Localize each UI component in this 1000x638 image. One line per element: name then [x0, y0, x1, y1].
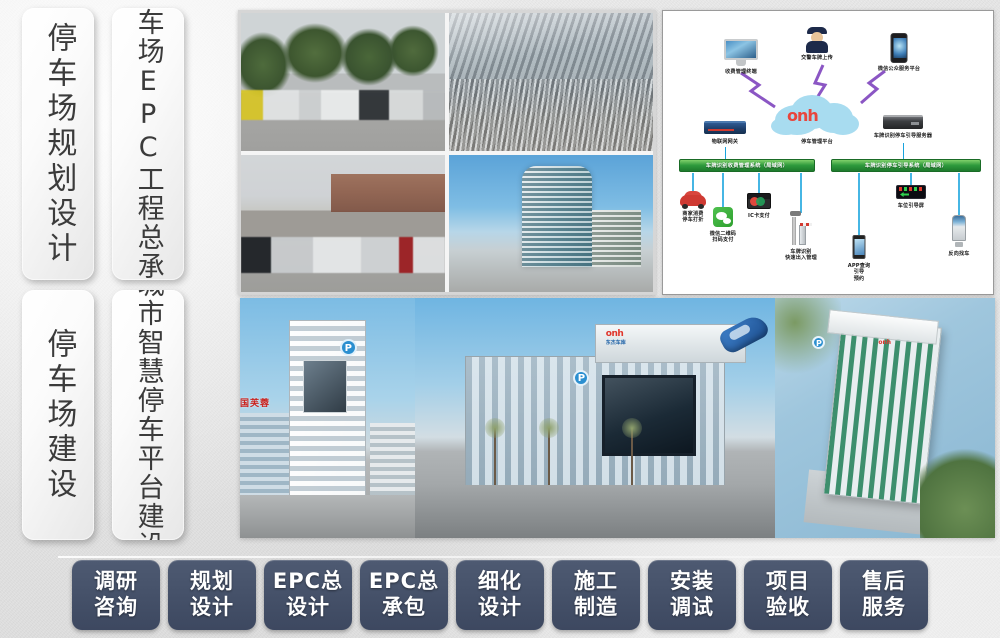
billboard-display — [303, 360, 347, 413]
pillar-card-label: 城市智慧停车平台建设 — [132, 290, 163, 540]
ground-plane — [240, 495, 415, 538]
left-pillar-group: 停车场规划设计 停车场EPC工程总承包 停车场建设 城市智慧停车平台建设 — [0, 0, 232, 548]
logo-subtitle: 东杰车库 — [606, 339, 626, 346]
greenery-bottom — [920, 442, 995, 538]
pillar-card-construction[interactable]: 停车场建设 — [22, 290, 94, 540]
photo-aerial-parking-view — [449, 13, 653, 151]
photo-office-tower — [449, 155, 653, 293]
low-building-left — [240, 413, 293, 495]
step-epc-design[interactable]: EPC总 设计 — [264, 560, 352, 630]
app-query-label: APP查询 引导 预约 — [848, 263, 871, 282]
step-detailed-design[interactable]: 细化 设计 — [456, 560, 544, 630]
step-project-acceptance[interactable]: 项目 验收 — [744, 560, 832, 630]
reverse-find-label: 反向找车 — [948, 251, 969, 257]
company-logo-onh: onh 东杰车库 — [606, 329, 626, 346]
photo-collage-panel — [238, 10, 656, 295]
pillar-card-label: 停车场EPC工程总承包 — [132, 8, 163, 280]
step-construction-manufacturing[interactable]: 施工 制造 — [552, 560, 640, 630]
company-logo-onh: onh — [878, 339, 891, 346]
system-architecture-diagram: onh 停车管理平台 收费管理终端 交警车牌上传 微信公众服务平台 物联网网关 … — [662, 10, 994, 295]
gate-barrier-icon — [790, 211, 812, 245]
red-car-icon — [680, 191, 706, 209]
fast-gate-label: 车牌识别 快速出入管理 — [785, 249, 817, 262]
parking-p-badge: P — [340, 339, 357, 356]
step-after-sales-service[interactable]: 售后 服务 — [840, 560, 928, 630]
pillar-card-planning-design[interactable]: 停车场规划设计 — [22, 8, 94, 280]
process-step-bar: 调研 咨询 规划 设计 EPC总 设计 EPC总 承包 细化 设计 施工 制造 … — [0, 552, 1000, 638]
step-epc-contracting[interactable]: EPC总 承包 — [360, 560, 448, 630]
guidance-screen-label: 车位引导屏 — [898, 203, 924, 209]
photo-surface-parking-lot — [241, 13, 445, 151]
wechat-qr-label: 微信二维码 扫码支付 — [710, 231, 736, 244]
pillar-card-epc-contracting[interactable]: 停车场EPC工程总承包 — [112, 8, 184, 280]
pillar-card-label: 停车场建设 — [41, 328, 76, 503]
pillar-card-label: 停车场规划设计 — [41, 22, 76, 267]
street-tree — [631, 428, 633, 490]
diagram-branch-lines — [663, 11, 994, 295]
rendering-aerial-tower: P onh — [775, 298, 995, 538]
merchant-discount-label: 商家消费 停车打折 — [682, 211, 703, 224]
building-sign-text: 国芙蓉 — [240, 396, 270, 409]
street-tree — [494, 428, 496, 490]
low-building-right — [370, 423, 416, 495]
photo-brick-building-lot — [241, 155, 445, 293]
rendering-modern-garage: onh 东杰车库 P — [415, 298, 775, 538]
pillar-card-smart-platform[interactable]: 城市智慧停车平台建设 — [112, 290, 184, 540]
photo-grid — [241, 13, 653, 292]
reverse-find-kiosk-icon — [952, 215, 966, 247]
ic-card-icon — [747, 193, 771, 209]
step-planning-design[interactable]: 规划 设计 — [168, 560, 256, 630]
led-guidance-screen-icon — [896, 185, 926, 199]
large-led-screen — [602, 375, 696, 457]
wechat-qr-icon — [713, 207, 733, 227]
diagram-canvas: onh 停车管理平台 收费管理终端 交警车牌上传 微信公众服务平台 物联网网关 … — [663, 11, 993, 294]
road-surface — [415, 485, 775, 538]
app-phone-icon — [853, 235, 866, 259]
architectural-renderings-panel: P 国芙蓉 onh 东杰车库 P P onh — [240, 298, 995, 538]
ic-card-label: IC卡支付 — [748, 213, 770, 219]
rendering-tower-garage: P 国芙蓉 — [240, 298, 415, 538]
logo-mark: onh — [606, 329, 624, 339]
step-installation-commissioning[interactable]: 安装 调试 — [648, 560, 736, 630]
step-research-consulting[interactable]: 调研 咨询 — [72, 560, 160, 630]
street-tree — [548, 428, 550, 490]
